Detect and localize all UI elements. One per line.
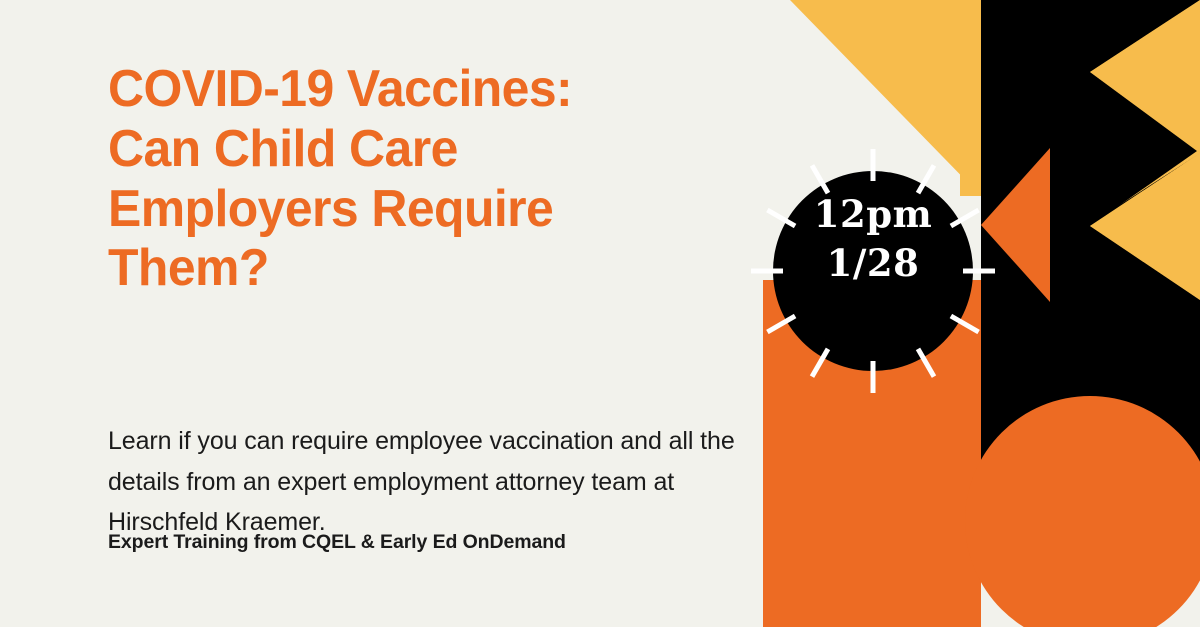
body-description: Learn if you can require employee vaccin…: [108, 421, 753, 543]
clock-face: [773, 171, 973, 371]
presenter-tagline: Expert Training from CQEL & Early Ed OnD…: [108, 531, 758, 554]
page-title: COVID-19 Vaccines: Can Child Care Employ…: [108, 60, 732, 299]
headline-block: COVID-19 Vaccines: Can Child Care Employ…: [108, 60, 758, 299]
promo-graphic-canvas: 12pm 1/28 COVID-19 Vaccines: Can Child C…: [0, 0, 1200, 627]
